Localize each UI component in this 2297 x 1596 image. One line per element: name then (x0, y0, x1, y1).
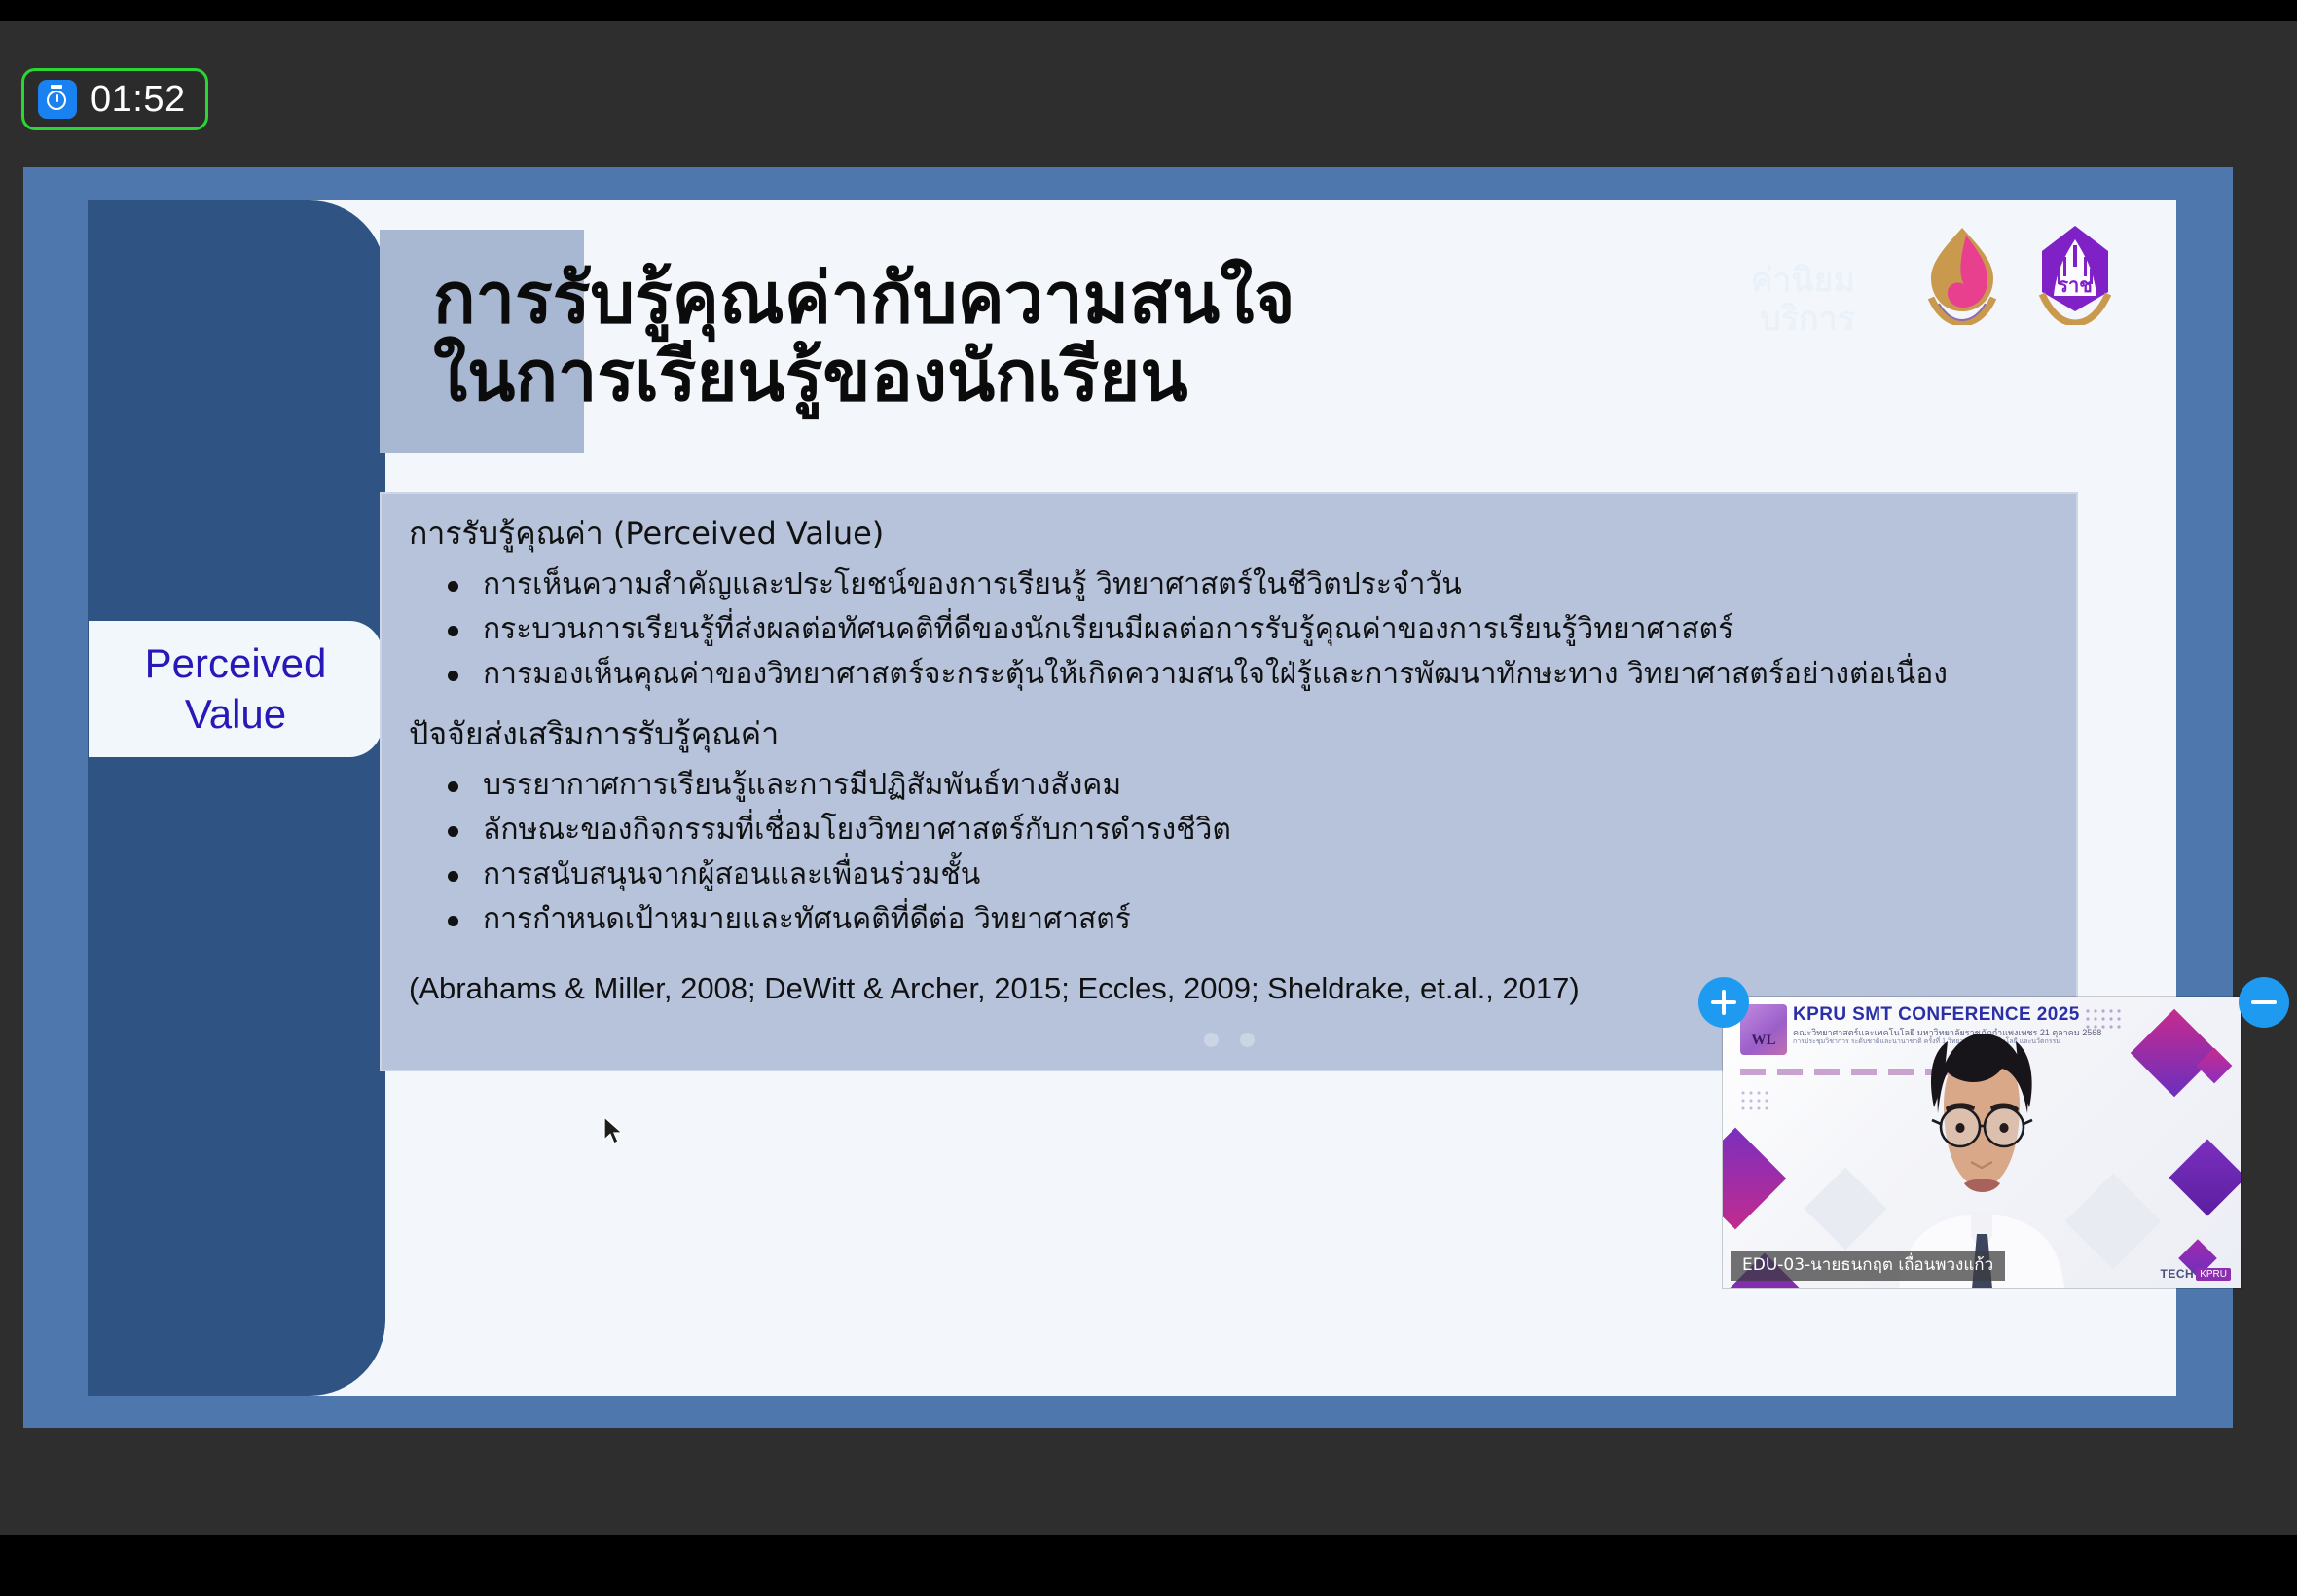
university-crown-logo-icon: ราช (2030, 222, 2120, 325)
conference-logo-text: WL (1740, 1033, 1787, 1049)
content-heading-2: ปัจจัยส่งเสริมการรับรู้คุณค่า (409, 714, 2059, 753)
citation-text: (Abrahams & Miller, 2008; DeWitt & Arche… (409, 969, 1580, 1008)
kpru-flame-logo-icon (1917, 222, 2007, 325)
pv-label-line1: Perceived (145, 640, 327, 687)
zoom-out-button[interactable] (2239, 977, 2289, 1028)
perceived-value-pill: Perceived Value (89, 621, 383, 757)
page-title: การรับรู้คุณค่ากับความสนใจ ในการเรียนรู้… (433, 259, 1728, 415)
perceived-value-bullet-list: การเห็นความสำคัญและประโยชน์ของการเรียนรู… (436, 562, 2059, 697)
list-item: การสนับสนุนจากผู้สอนและเพื่อนร่วมชั้น (436, 852, 2059, 897)
list-item: การเห็นความสำคัญและประโยชน์ของการเรียนรู… (436, 562, 2059, 607)
pagination-dot[interactable] (1240, 1033, 1255, 1047)
supporting-factors-bullet-list: บรรยากาศการเรียนรู้และการมีปฏิสัมพันธ์ทา… (436, 763, 2059, 942)
tech-sponsor-logo: TECH KPRU (2161, 1267, 2231, 1281)
slide-watermark: ค่านิยม บริการ (1751, 261, 1855, 339)
participant-video-tile[interactable]: WL KPRU SMT CONFERENCE 2025 คณะวิทยาศาสต… (1723, 997, 2241, 1288)
slide-sidebar: Perceived Value (88, 200, 385, 1396)
stopwatch-icon (38, 80, 77, 119)
title-line-2: ในการเรียนรู้ของนักเรียน (433, 337, 1728, 415)
session-timer-badge: 01:52 (21, 68, 208, 130)
tech-logo-badge: KPRU (2196, 1268, 2231, 1281)
svg-text:ราช: ราช (2058, 273, 2093, 297)
list-item: การมองเห็นคุณค่าของวิทยาศาสตร์จะกระตุ้นใ… (436, 652, 2059, 697)
mouse-cursor (603, 1116, 625, 1147)
decorative-dot-grid (1740, 1090, 1779, 1115)
list-item: ลักษณะของกิจกรรมที่เชื่อมโยงวิทยาศาสตร์ก… (436, 808, 2059, 852)
pv-label-line2: Value (185, 691, 286, 738)
content-heading-1: การรับรู้คุณค่า (Perceived Value) (409, 514, 2059, 553)
participant-name-label: EDU-03-นายธนกฤต เถื่อนพวงแก้ว (1731, 1251, 2005, 1281)
zoom-in-button[interactable] (1698, 977, 1749, 1028)
pagination-dot[interactable] (1204, 1033, 1219, 1047)
list-item: การกำหนดเป้าหมายและทัศนคติที่ดีต่อ วิทยา… (436, 897, 2059, 942)
list-item: บรรยากาศการเรียนรู้และการมีปฏิสัมพันธ์ทา… (436, 763, 2059, 808)
watermark-line-1: ค่านิยม (1751, 261, 1855, 300)
conference-banner-title: KPRU SMT CONFERENCE 2025 (1793, 1004, 2080, 1026)
content-card: การรับรู้คุณค่า (Perceived Value) การเห็… (380, 492, 2078, 1071)
watermark-line-2: บริการ (1751, 300, 1855, 339)
list-item: กระบวนการเรียนรู้ที่ส่งผลต่อทัศนคติที่ดี… (436, 607, 2059, 652)
logo-row: ราช (1917, 222, 2120, 325)
app-root: 01:52 Perceived Value การรับรู้คุณค่ากับ… (0, 0, 2297, 1596)
title-line-1: การรับรู้คุณค่ากับความสนใจ (433, 259, 1728, 337)
timer-value: 01:52 (91, 80, 186, 119)
conference-logo-icon: WL (1740, 1004, 1787, 1055)
tech-logo-text: TECH (2161, 1267, 2195, 1281)
